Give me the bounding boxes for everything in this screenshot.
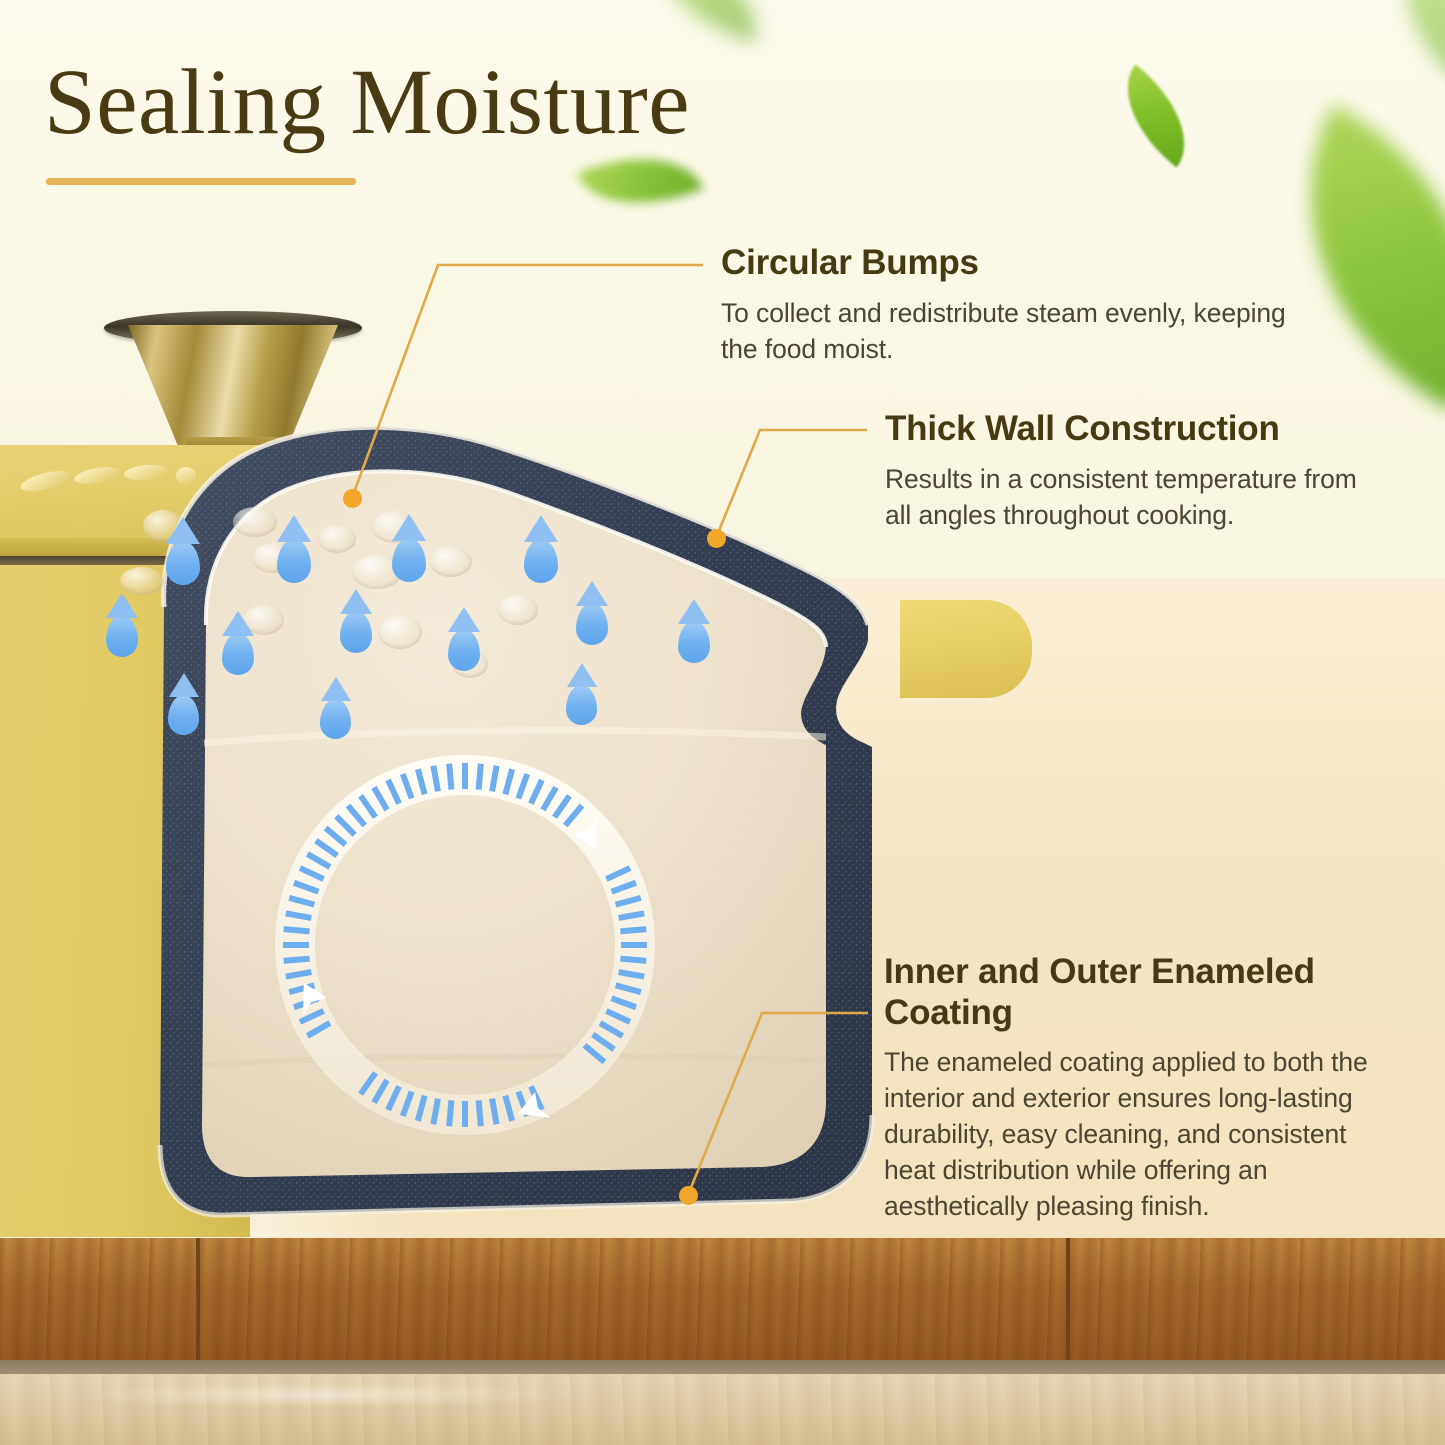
counter-gloss-reflection bbox=[60, 1382, 580, 1408]
callout-enameled-coating: Inner and Outer Enameled Coating The ena… bbox=[884, 952, 1389, 1224]
heat-circulation-ring bbox=[255, 735, 675, 1155]
page-title: Sealing Moisture bbox=[44, 56, 690, 149]
lid-bump bbox=[120, 567, 164, 595]
marker-dot-thick-wall bbox=[707, 529, 726, 548]
callout-heading: Thick Wall Construction bbox=[885, 409, 1385, 450]
callout-heading: Circular Bumps bbox=[721, 243, 1321, 284]
marker-dot-enameled-coating bbox=[679, 1186, 698, 1205]
callout-thick-wall: Thick Wall Construction Results in a con… bbox=[885, 409, 1385, 533]
lid-bump bbox=[318, 525, 356, 553]
callout-body: Results in a consistent temperature from… bbox=[885, 461, 1385, 533]
lid-bump bbox=[378, 615, 422, 649]
callout-body: To collect and redistribute steam evenly… bbox=[721, 295, 1321, 367]
board-seam bbox=[196, 1238, 200, 1366]
title-underline-rule bbox=[46, 178, 356, 185]
callout-body: The enameled coating applied to both the… bbox=[884, 1044, 1389, 1224]
marker-dot-circular-bumps bbox=[343, 489, 362, 508]
wood-cutting-board bbox=[0, 1238, 1445, 1366]
lid-bump bbox=[498, 595, 538, 625]
board-seam bbox=[1066, 1238, 1070, 1366]
callout-heading: Inner and Outer Enameled Coating bbox=[884, 952, 1389, 1033]
lid-bump bbox=[233, 507, 277, 537]
callout-circular-bumps: Circular Bumps To collect and redistribu… bbox=[721, 243, 1321, 367]
pot-side-handle bbox=[900, 600, 1032, 698]
infographic-canvas: Sealing Moisture bbox=[0, 0, 1445, 1445]
lid-bump bbox=[430, 547, 472, 577]
